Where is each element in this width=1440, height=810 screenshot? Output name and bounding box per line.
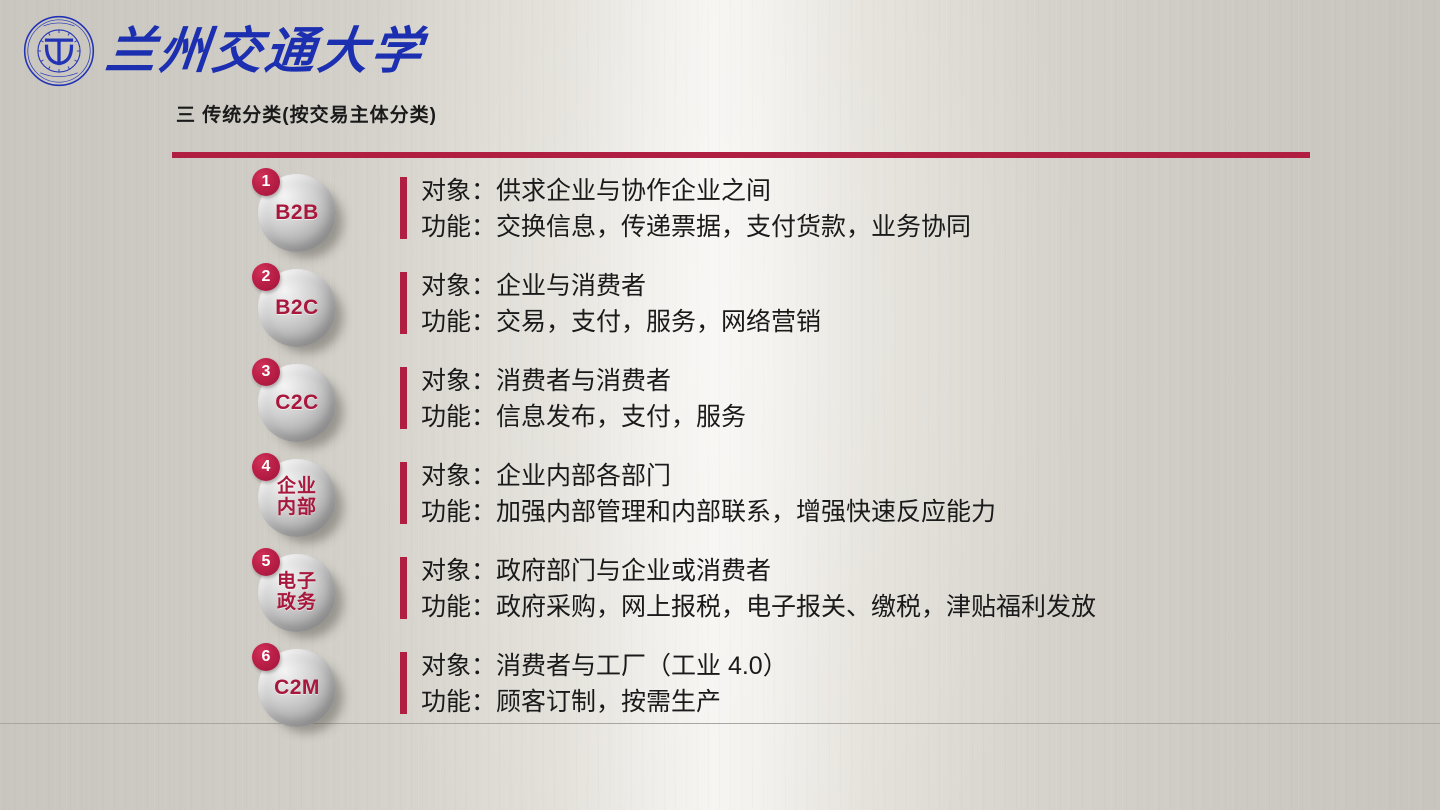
slide-canvas: 兰州交通大学 三 传统分类(按交易主体分类) B2B 1 对象：供求企业与协作企…: [0, 0, 1440, 810]
list-item[interactable]: C2M 6 对象：消费者与工厂（工业 4.0） 功能：顾客订制，按需生产: [0, 643, 1440, 738]
item-text: 对象：政府部门与企业或消费者 功能：政府采购，网上报税，电子报关、缴税，津贴福利…: [400, 554, 1096, 625]
item-text: 对象：供求企业与协作企业之间 功能：交换信息，传递票据，支付货款，业务协同: [400, 174, 971, 245]
sphere-label: 企业: [277, 477, 317, 498]
object-line: 对象：企业内部各部门: [421, 459, 996, 495]
object-line: 对象：消费者与消费者: [421, 364, 746, 400]
marker-c2c[interactable]: C2C 3: [252, 358, 348, 450]
number-badge: 1: [252, 168, 280, 196]
accent-bar-icon: [400, 557, 407, 619]
sphere-label: 电子: [277, 572, 317, 593]
item-text: 对象：企业与消费者 功能：交易，支付，服务，网络营销: [400, 269, 821, 340]
marker-intra-enterprise[interactable]: 企业 内部 4: [252, 453, 348, 545]
number-badge: 3: [252, 358, 280, 386]
number-badge: 5: [252, 548, 280, 576]
function-line: 功能：顾客订制，按需生产: [421, 685, 788, 721]
title-divider: [172, 152, 1310, 158]
list-item[interactable]: 企业 内部 4 对象：企业内部各部门 功能：加强内部管理和内部联系，增强快速反应…: [0, 453, 1440, 548]
function-line: 功能：交换信息，传递票据，支付货款，业务协同: [421, 210, 971, 246]
marker-b2c[interactable]: B2C 2: [252, 263, 348, 355]
accent-bar-icon: [400, 652, 407, 714]
function-line: 功能：信息发布，支付，服务: [421, 400, 746, 436]
object-line: 对象：供求企业与协作企业之间: [421, 174, 971, 210]
object-line: 对象：企业与消费者: [421, 269, 821, 305]
university-branding: 兰州交通大学: [20, 12, 424, 90]
number-badge: 4: [252, 453, 280, 481]
function-line: 功能：加强内部管理和内部联系，增强快速反应能力: [421, 495, 996, 531]
item-text: 对象：消费者与消费者 功能：信息发布，支付，服务: [400, 364, 746, 435]
marker-b2b[interactable]: B2B 1: [252, 168, 348, 260]
list-item[interactable]: B2C 2 对象：企业与消费者 功能：交易，支付，服务，网络营销: [0, 263, 1440, 358]
sphere-label: C2M: [274, 677, 320, 698]
university-name: 兰州交通大学: [103, 26, 426, 76]
item-text: 对象：企业内部各部门 功能：加强内部管理和内部联系，增强快速反应能力: [400, 459, 996, 530]
accent-bar-icon: [400, 462, 407, 524]
object-line: 对象：消费者与工厂（工业 4.0）: [421, 649, 788, 685]
classification-list: B2B 1 对象：供求企业与协作企业之间 功能：交换信息，传递票据，支付货款，业…: [0, 168, 1440, 738]
university-seal-icon: [20, 12, 98, 90]
object-line: 对象：政府部门与企业或消费者: [421, 554, 1096, 590]
marker-e-government[interactable]: 电子 政务 5: [252, 548, 348, 640]
sphere-label-line2: 政务: [277, 593, 317, 614]
number-badge: 2: [252, 263, 280, 291]
accent-bar-icon: [400, 272, 407, 334]
list-item[interactable]: 电子 政务 5 对象：政府部门与企业或消费者 功能：政府采购，网上报税，电子报关…: [0, 548, 1440, 643]
sphere-label-line2: 内部: [277, 498, 317, 519]
sphere-label: B2B: [275, 202, 319, 223]
list-item[interactable]: B2B 1 对象：供求企业与协作企业之间 功能：交换信息，传递票据，支付货款，业…: [0, 168, 1440, 263]
item-text: 对象：消费者与工厂（工业 4.0） 功能：顾客订制，按需生产: [400, 649, 788, 720]
list-item[interactable]: C2C 3 对象：消费者与消费者 功能：信息发布，支付，服务: [0, 358, 1440, 453]
number-badge: 6: [252, 643, 280, 671]
page-title: 三 传统分类(按交易主体分类): [176, 100, 437, 127]
accent-bar-icon: [400, 367, 407, 429]
function-line: 功能：政府采购，网上报税，电子报关、缴税，津贴福利发放: [421, 590, 1096, 626]
function-line: 功能：交易，支付，服务，网络营销: [421, 305, 821, 341]
sphere-label: C2C: [275, 392, 319, 413]
accent-bar-icon: [400, 177, 407, 239]
sphere-label: B2C: [275, 297, 319, 318]
marker-c2m[interactable]: C2M 6: [252, 643, 348, 735]
